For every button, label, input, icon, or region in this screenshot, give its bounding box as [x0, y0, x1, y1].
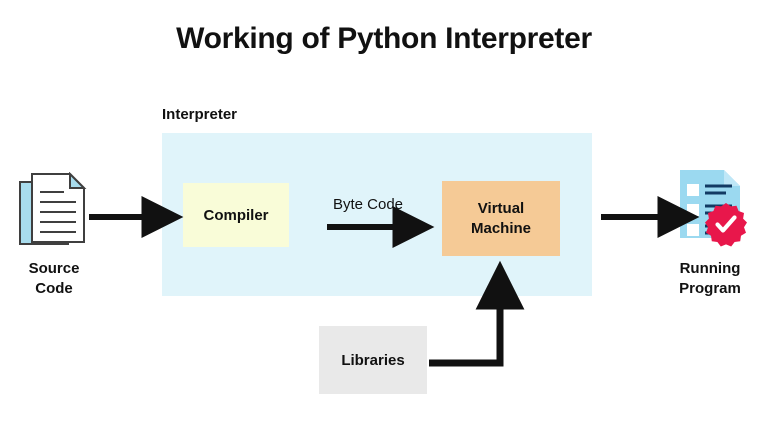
libraries-label: Libraries: [341, 352, 404, 369]
libraries-box[interactable]: Libraries: [319, 326, 427, 394]
diagram-canvas: Working of Python Interpreter Interprete…: [0, 0, 768, 432]
virtual-machine-box[interactable]: Virtual Machine: [442, 181, 560, 256]
running-program-label-line1: Running: [658, 259, 762, 279]
virtual-machine-label-line2: Machine: [471, 219, 531, 238]
compiler-label: Compiler: [203, 207, 268, 224]
page-title: Working of Python Interpreter: [0, 22, 768, 56]
bytecode-label: Byte Code: [320, 196, 416, 213]
virtual-machine-label-line1: Virtual: [478, 199, 524, 218]
arrow-libraries-to-vm: [429, 302, 500, 363]
compiler-box[interactable]: Compiler: [183, 183, 289, 247]
source-code-label-line2: Code: [8, 279, 100, 299]
running-program-label-line2: Program: [658, 279, 762, 299]
source-code-label: Source Code: [8, 259, 100, 298]
running-program-label: Running Program: [658, 259, 762, 298]
document-stack-icon: [18, 172, 90, 252]
interpreter-label: Interpreter: [162, 106, 237, 123]
checked-document-icon: [676, 168, 748, 252]
source-code-label-line1: Source: [8, 259, 100, 279]
